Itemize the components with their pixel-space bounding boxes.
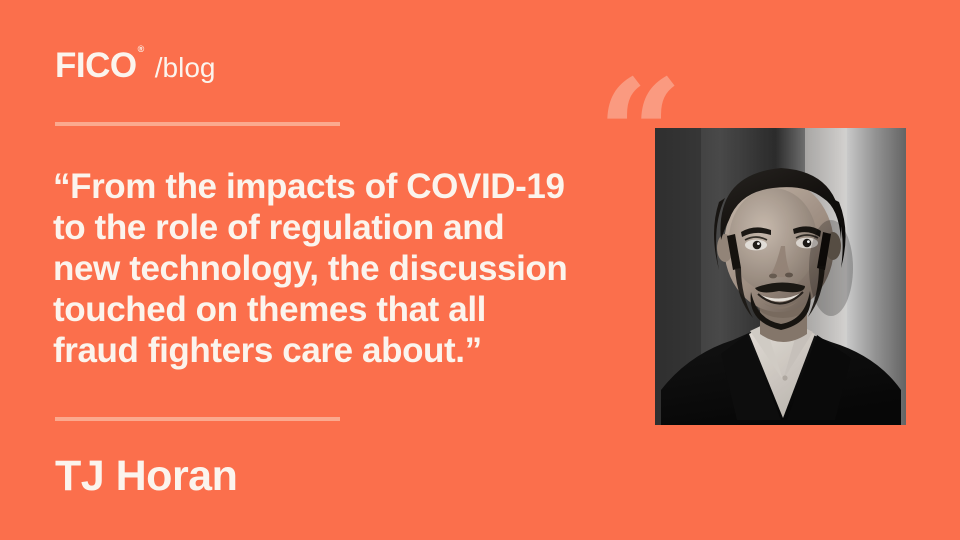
quote-line: new technology, the discussion xyxy=(53,248,593,289)
author-name: TJ Horan xyxy=(55,455,237,498)
quote-line: touched on themes that all xyxy=(53,289,593,330)
author-portrait xyxy=(655,128,906,425)
divider-top xyxy=(55,122,340,126)
quote-line: fraud fighters care about.” xyxy=(53,330,593,371)
registered-trademark-icon: ® xyxy=(138,44,144,54)
blog-label: /blog xyxy=(155,54,216,82)
fico-wordmark-text: FICO xyxy=(55,46,137,85)
divider-bottom xyxy=(55,417,340,421)
brand-lockup[interactable]: FICO® /blog xyxy=(55,48,215,83)
quote-line: “From the impacts of COVID-19 xyxy=(53,166,593,207)
fico-wordmark: FICO® xyxy=(55,48,143,83)
quote-line: to the role of regulation and xyxy=(53,207,593,248)
quote-text: “From the impacts of COVID-19 to the rol… xyxy=(53,166,593,371)
blog-quote-card: FICO® /blog “From the impacts of COVID-1… xyxy=(0,0,960,540)
